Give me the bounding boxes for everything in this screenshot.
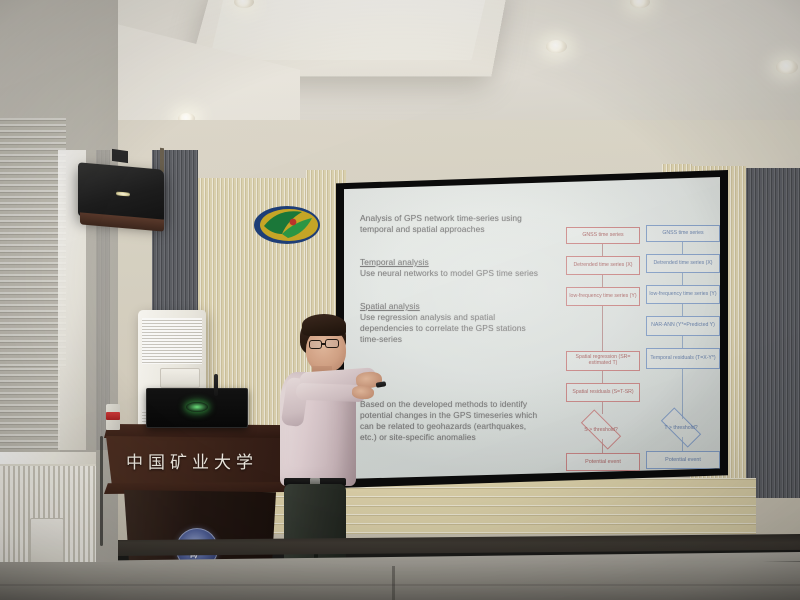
flow-connector	[602, 306, 603, 351]
slide-section-body-spatial-2: dependencies to correlate the GPS statio…	[360, 323, 526, 334]
downlight-icon	[546, 40, 567, 53]
wall-panel-dark	[742, 168, 800, 498]
microphone[interactable]	[214, 374, 218, 396]
window-blind	[0, 118, 66, 368]
slide-conclusion-line1: Based on the developed methods to identi…	[360, 399, 527, 410]
window-sill	[0, 452, 96, 464]
floor	[0, 562, 800, 600]
air-conditioner-display-panel	[160, 368, 200, 388]
flow-connector	[602, 275, 603, 287]
flow-box-temporal-0: GNSS time series	[646, 225, 720, 242]
flow-result-temporal: Potential event	[646, 451, 720, 469]
presenter-hair-top	[302, 314, 346, 336]
glasses-bridge	[322, 343, 326, 345]
glasses-right-lens	[325, 339, 339, 348]
slide-section-body-spatial-3: time-series	[360, 334, 402, 345]
laptop-brand-logo-icon	[186, 402, 208, 412]
flow-box-spatial-2: low-frequency time series (Y)	[566, 287, 640, 306]
floor-seam	[392, 566, 395, 600]
flow-box-temporal-4: Temporal residuals (T=X-Y*)	[646, 348, 720, 369]
flow-decision-spatial-label: S > threshold?	[566, 423, 636, 437]
presentation-room-photo: Analysis of GPS network time-series usin…	[0, 0, 800, 600]
presenter-hand-lower	[352, 385, 375, 400]
projection-screen: Analysis of GPS network time-series usin…	[344, 177, 720, 479]
slide-conclusion-line4: etc.) or site-specific anomalies	[360, 432, 476, 443]
slide-conclusion-line2: potential changes in the GPS timeseries …	[360, 410, 537, 421]
podium-university-name: 中国矿业大学	[126, 448, 258, 473]
window-blind	[0, 368, 60, 452]
speaker-mount-arm	[160, 148, 164, 173]
air-conditioner-grille	[142, 318, 202, 364]
slide-title-line1: Analysis of GPS network time-series usin…	[360, 213, 522, 224]
flow-connector	[682, 242, 683, 254]
slide-section-heading-temporal: Temporal analysis	[360, 257, 429, 268]
radiator-cover-plate	[30, 518, 64, 564]
flow-box-temporal-2: low-frequency time series (Y)	[646, 285, 720, 304]
slide-conclusion-line3: can be related to geohazards (earthquake…	[360, 421, 526, 432]
flow-box-spatial-3: Spatial regression (SR= estimated T)	[566, 351, 640, 371]
flow-connector	[682, 273, 683, 285]
flow-connector	[682, 304, 683, 316]
podium-cable	[100, 436, 103, 546]
speaker-mount-bracket	[112, 149, 128, 163]
floor-seam	[0, 584, 800, 586]
flow-box-spatial-1: Detrended time series (X)	[566, 256, 640, 275]
flow-connector	[602, 371, 603, 383]
flow-connector	[682, 369, 683, 419]
flow-result-spatial: Potential event	[566, 453, 640, 471]
flow-box-spatial-0: GNSS time series	[566, 227, 640, 244]
slide-title-line2: temporal and spatial approaches	[360, 224, 485, 235]
slide-content: Analysis of GPS network time-series usin…	[344, 177, 720, 479]
ceiling-recess-inner	[209, 0, 488, 60]
flow-box-temporal-1: Detrended time series (X)	[646, 254, 720, 273]
flow-connector	[602, 244, 603, 256]
flow-box-temporal-3: NAR-ANN (Y*=Predicted Y)	[646, 316, 720, 336]
slide-section-body-temporal: Use neural networks to model GPS time se…	[360, 268, 538, 279]
glasses-left-lens	[309, 340, 322, 349]
slide-section-heading-spatial: Spatial analysis	[360, 301, 420, 312]
flow-decision-temporal-label: T > threshold?	[646, 421, 716, 435]
water-bottle-label	[106, 412, 120, 420]
flow-connector	[602, 402, 603, 414]
flow-box-spatial-4: Spatial residuals (S=T-SR)	[566, 383, 640, 402]
downlight-icon	[776, 60, 798, 74]
wall-logo	[252, 200, 322, 250]
flow-connector	[682, 336, 683, 348]
slide-section-body-spatial-1: Use regression analysis and spatial	[360, 312, 495, 323]
